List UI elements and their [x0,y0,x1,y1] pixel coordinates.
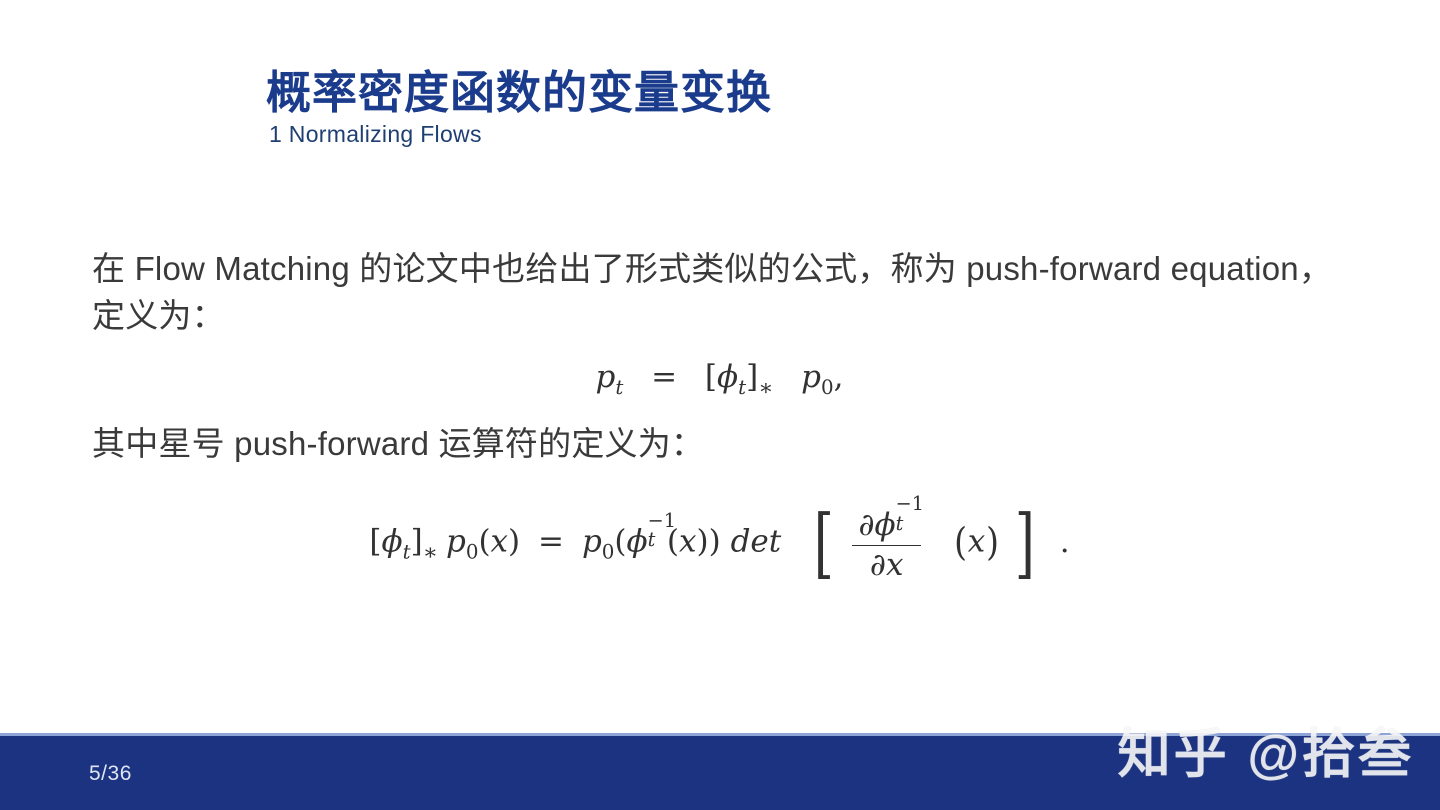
eq2-period: . [1060,524,1070,560]
eq2-partial-num: ∂ [858,507,874,543]
eq1-phi-sub-t: t [738,376,746,399]
body-paragraph-2: 其中星号 push-forward 运算符的定义为： [92,421,1347,468]
eq2-x-1: x [491,524,508,560]
slide-canvas: 概率密度函数的变量变换 1 Normalizing Flows 在 Flow M… [0,0,1440,810]
eq2-lparen-4: ( [954,524,967,563]
eq1-equals: = [651,359,677,395]
slide-body: 在 Flow Matching 的论文中也给出了形式类似的公式，称为 push-… [92,246,1347,582]
eq2-lparen-2: ( [614,524,626,560]
eq2-rparen-1: ) [508,524,520,560]
eq2-fraction: ∂ϕ−1t ∂x [852,504,920,582]
eq2-det: det [731,524,782,560]
eq2-p-rhs-sub-zero: 0 [602,541,615,564]
eq2-rbracket: ] [411,524,423,560]
eq2-lbracket: [ [369,524,381,560]
eq1-p-sub-t: t [615,376,623,399]
eq1-rbracket: ] [746,359,758,395]
eq2-phi-num-subsup: −1t [896,504,915,535]
eq2-big-lbracket: [ [814,509,834,577]
eq2-partial-den: ∂ [870,547,886,583]
eq2-rparen-4: ) [986,524,999,563]
page-title: 概率密度函数的变量变换 [266,68,1166,118]
eq1-p-sub-zero: 0 [821,376,834,399]
equation-2-wrapper: [ϕt]∗p0(x) = p0(ϕ−1t(x)) det [ ∂ϕ−1t ∂x … [92,504,1347,582]
footer-bar [0,736,1440,810]
eq2-p: p [446,524,466,560]
eq2-phi-num: ϕ [875,507,896,543]
eq2-p-sub-zero: 0 [466,541,479,564]
eq2-phi-rhs-subsup: −1t [648,521,667,552]
eq2-p-rhs: p [582,524,602,560]
eq2-phi: ϕ [382,524,403,560]
body-paragraph-1: 在 Flow Matching 的论文中也给出了形式类似的公式，称为 push-… [92,246,1347,340]
eq1-p: p [596,359,616,395]
eq2-phi-num-sub-t: t [896,514,904,535]
eq2-x-den: x [886,547,903,583]
eq1-phi: ϕ [717,359,738,395]
title-block: 概率密度函数的变量变换 1 Normalizing Flows [266,68,1166,148]
eq2-rparen-2: ) [709,524,721,560]
eq2-equals: = [538,524,564,560]
eq1-lbracket: [ [705,359,717,395]
equation-2: [ϕt]∗p0(x) = p0(ϕ−1t(x)) det [ ∂ϕ−1t ∂x … [369,504,1069,582]
eq2-rparen-3: ) [696,524,708,560]
eq2-fraction-numerator: ∂ϕ−1t [852,504,920,545]
eq1-star: ∗ [758,375,773,401]
eq1-p0: p [801,359,821,395]
equation-1: pt = [ϕt]∗ p0, [92,358,1347,396]
page-subtitle: 1 Normalizing Flows [269,121,1166,148]
eq2-lparen-1: ( [478,524,490,560]
eq2-phi-sub-t: t [403,541,411,564]
eq2-fraction-denominator: ∂x [852,546,920,582]
eq2-star: ∗ [423,539,438,565]
page-number: 5/36 [89,762,132,786]
eq1-comma: , [834,359,844,395]
eq2-big-rbracket: ] [1015,509,1035,577]
eq2-x-3: x [968,524,985,560]
eq2-phi-rhs: ϕ [627,524,648,560]
eq2-phi-rhs-sub-t: t [648,530,656,549]
eq2-phi-rhs-exponent: −1 [648,511,676,530]
eq2-x-2: x [679,524,696,560]
